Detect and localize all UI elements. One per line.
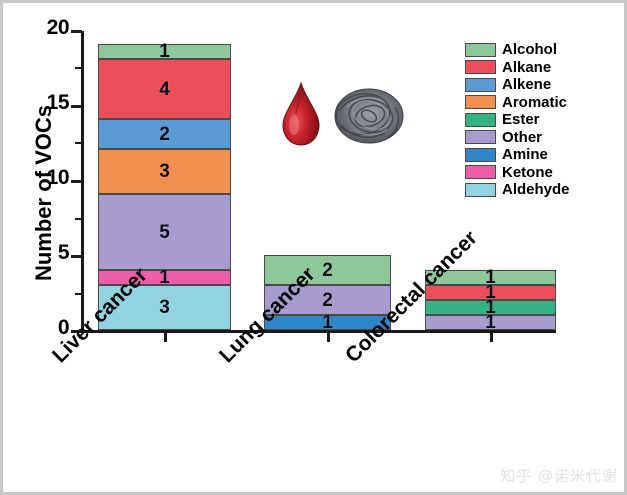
- legend-label: Aromatic: [502, 95, 567, 110]
- legend-item-alkene[interactable]: Alkene: [465, 76, 585, 94]
- legend-label: Amine: [502, 147, 548, 162]
- legend-item-ketone[interactable]: Ketone: [465, 164, 585, 182]
- segment-liver-other[interactable]: 5: [98, 194, 231, 270]
- legend-swatch-icon: [465, 78, 496, 92]
- segment-value-label: 5: [159, 223, 170, 242]
- segment-liver-aromatic[interactable]: 3: [98, 149, 231, 194]
- segment-value-label: 4: [159, 80, 170, 99]
- legend-swatch-icon: [465, 95, 496, 109]
- y-tick-label-20: 20: [21, 16, 69, 40]
- x-tick-colorectal: [490, 333, 493, 342]
- plot-area: 20 15 10 5 0 Number of VOCs 3 1: [3, 3, 627, 495]
- legend-label: Aldehyde: [502, 182, 570, 197]
- segment-value-label: 3: [159, 162, 170, 181]
- x-tick-lung: [327, 333, 330, 342]
- legend-item-alcohol[interactable]: Alcohol: [465, 41, 585, 59]
- legend-item-aromatic[interactable]: Aromatic: [465, 94, 585, 112]
- segment-value-label: 2: [322, 261, 333, 280]
- legend-item-ester[interactable]: Ester: [465, 111, 585, 129]
- legend-swatch-icon: [465, 183, 496, 197]
- segment-value-label: 1: [485, 268, 496, 287]
- segment-liver-alcohol[interactable]: 1: [98, 44, 231, 59]
- legend-item-amine[interactable]: Amine: [465, 146, 585, 164]
- legend-item-aldehyde[interactable]: Aldehyde: [465, 181, 585, 199]
- y-tick-minor-2_5: [75, 293, 82, 295]
- blood-drop-icon: [280, 81, 322, 147]
- y-tick-minor-12_5: [75, 142, 82, 144]
- y-tick-minor-17_5: [75, 67, 82, 69]
- segment-value-label: 2: [322, 291, 333, 310]
- legend-item-other[interactable]: Other: [465, 129, 585, 147]
- segment-liver-alkane[interactable]: 4: [98, 59, 231, 119]
- segment-value-label: 3: [159, 298, 170, 317]
- legend-label: Alkene: [502, 77, 551, 92]
- segment-value-label: 2: [159, 125, 170, 144]
- y-tick-5: [71, 255, 82, 258]
- y-tick-minor-7_5: [75, 218, 82, 220]
- legend: Alcohol Alkane Alkene Aromatic Ester Oth…: [465, 41, 585, 199]
- legend-swatch-icon: [465, 60, 496, 74]
- legend-label: Ketone: [502, 165, 553, 180]
- legend-label: Ester: [502, 112, 540, 127]
- segment-value-label: 1: [322, 313, 333, 332]
- legend-swatch-icon: [465, 43, 496, 57]
- legend-label: Other: [502, 130, 542, 145]
- segment-lung-alcohol[interactable]: 2: [264, 255, 391, 285]
- legend-swatch-icon: [465, 165, 496, 179]
- segment-value-label: 1: [159, 42, 170, 61]
- y-axis-title: Number of VOCs: [31, 73, 57, 313]
- legend-label: Alkane: [502, 60, 551, 75]
- watermark: 知乎 @诺米代谢: [500, 465, 618, 486]
- segment-value-label: 1: [159, 268, 170, 287]
- legend-swatch-icon: [465, 130, 496, 144]
- chart-root: 20 15 10 5 0 Number of VOCs 3 1: [0, 0, 627, 495]
- legend-swatch-icon: [465, 113, 496, 127]
- y-tick-10: [71, 180, 82, 183]
- legend-item-alkane[interactable]: Alkane: [465, 59, 585, 77]
- segment-liver-alkene[interactable]: 2: [98, 119, 231, 149]
- legend-swatch-icon: [465, 148, 496, 162]
- fiber-ball-icon: [333, 87, 405, 145]
- y-tick-15: [71, 105, 82, 108]
- legend-label: Alcohol: [502, 42, 557, 57]
- y-tick-20: [71, 30, 82, 33]
- x-tick-liver: [164, 333, 167, 342]
